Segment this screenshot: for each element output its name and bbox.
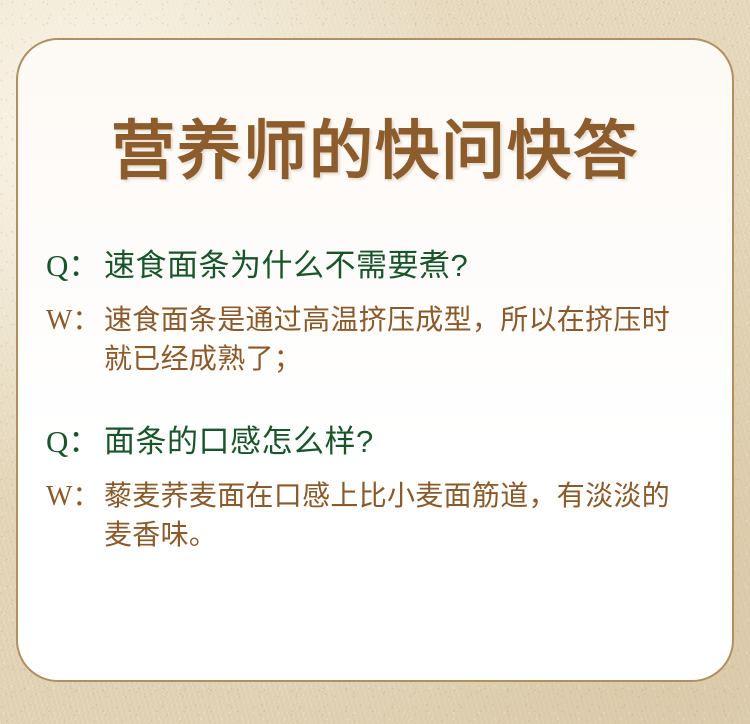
qa-item: Q： 速食面条为什么不需要煮? W： 速食面条是通过高温挤压成型，所以在挤压时就… — [46, 247, 702, 379]
answer-row: W： 速食面条是通过高温挤压成型，所以在挤压时就已经成熟了； — [46, 300, 702, 380]
answer-text: 速食面条是通过高温挤压成型，所以在挤压时就已经成熟了； — [104, 300, 690, 380]
question-marker: Q： — [46, 247, 104, 285]
qa-list: Q： 速食面条为什么不需要煮? W： 速食面条是通过高温挤压成型，所以在挤压时就… — [18, 185, 732, 555]
answer-row: W： 藜麦荞麦面在口感上比小麦面筋道，有淡淡的麦香味。 — [46, 476, 702, 556]
answer-marker: W： — [46, 476, 104, 517]
question-row: Q： 速食面条为什么不需要煮? — [46, 247, 702, 285]
question-row: Q： 面条的口感怎么样? — [46, 423, 702, 461]
question-text: 面条的口感怎么样? — [104, 423, 702, 461]
answer-marker: W： — [46, 300, 104, 341]
question-text: 速食面条为什么不需要煮? — [104, 247, 702, 285]
answer-text: 藜麦荞麦面在口感上比小麦面筋道，有淡淡的麦香味。 — [104, 476, 690, 556]
qa-item: Q： 面条的口感怎么样? W： 藜麦荞麦面在口感上比小麦面筋道，有淡淡的麦香味。 — [46, 423, 702, 555]
question-marker: Q： — [46, 423, 104, 461]
qa-card: 营养师的快问快答 Q： 速食面条为什么不需要煮? W： 速食面条是通过高温挤压成… — [16, 38, 734, 682]
page-title: 营养师的快问快答 — [18, 40, 732, 185]
